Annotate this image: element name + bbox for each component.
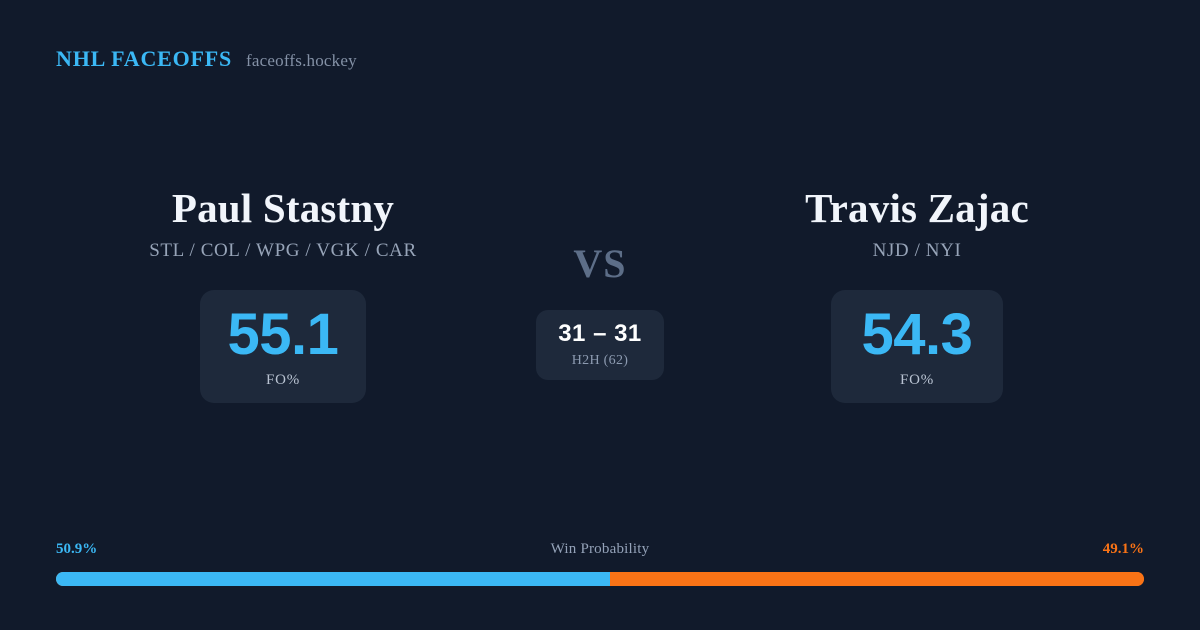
win-probability-labels: 50.9% Win Probability 49.1% — [56, 541, 1144, 563]
h2h-label: H2H (62) — [572, 353, 628, 369]
vs-label: VS — [573, 244, 626, 284]
player-right-faceoff-pct: 54.3 — [862, 306, 973, 364]
matchup-section: Paul Stastny STL / COL / WPG / VGK / CAR… — [0, 186, 1200, 436]
brand-title: NHL FACEOFFS — [56, 46, 232, 72]
player-right-stat-box: 54.3 FO% — [831, 290, 1003, 403]
site-domain: faceoffs.hockey — [246, 51, 357, 71]
player-left-teams: STL / COL / WPG / VGK / CAR — [149, 240, 416, 262]
win-probability-title: Win Probability — [56, 541, 1144, 558]
header: NHL FACEOFFS faceoffs.hockey — [56, 46, 357, 72]
head-to-head-box: 31 – 31 H2H (62) — [536, 310, 664, 380]
h2h-score: 31 – 31 — [558, 322, 642, 346]
player-left-name: Paul Stastny — [172, 186, 394, 232]
player-right: Travis Zajac NJD / NYI 54.3 FO% — [682, 186, 1152, 403]
faceoff-matchup-card: NHL FACEOFFS faceoffs.hockey Paul Stastn… — [0, 0, 1200, 630]
player-left-stat-box: 55.1 FO% — [200, 290, 367, 403]
player-right-stat-label: FO% — [900, 372, 934, 389]
win-probability-right-pct: 49.1% — [1103, 541, 1144, 558]
win-probability-section: 50.9% Win Probability 49.1% — [56, 541, 1144, 586]
player-right-teams: NJD / NYI — [873, 240, 962, 262]
player-left: Paul Stastny STL / COL / WPG / VGK / CAR… — [48, 186, 518, 403]
win-probability-bar-left-fill — [56, 572, 610, 586]
player-left-faceoff-pct: 55.1 — [228, 306, 339, 364]
player-left-stat-label: FO% — [266, 372, 300, 389]
win-probability-bar-right-fill — [610, 572, 1144, 586]
player-right-name: Travis Zajac — [805, 186, 1029, 232]
win-probability-bar — [56, 572, 1144, 586]
